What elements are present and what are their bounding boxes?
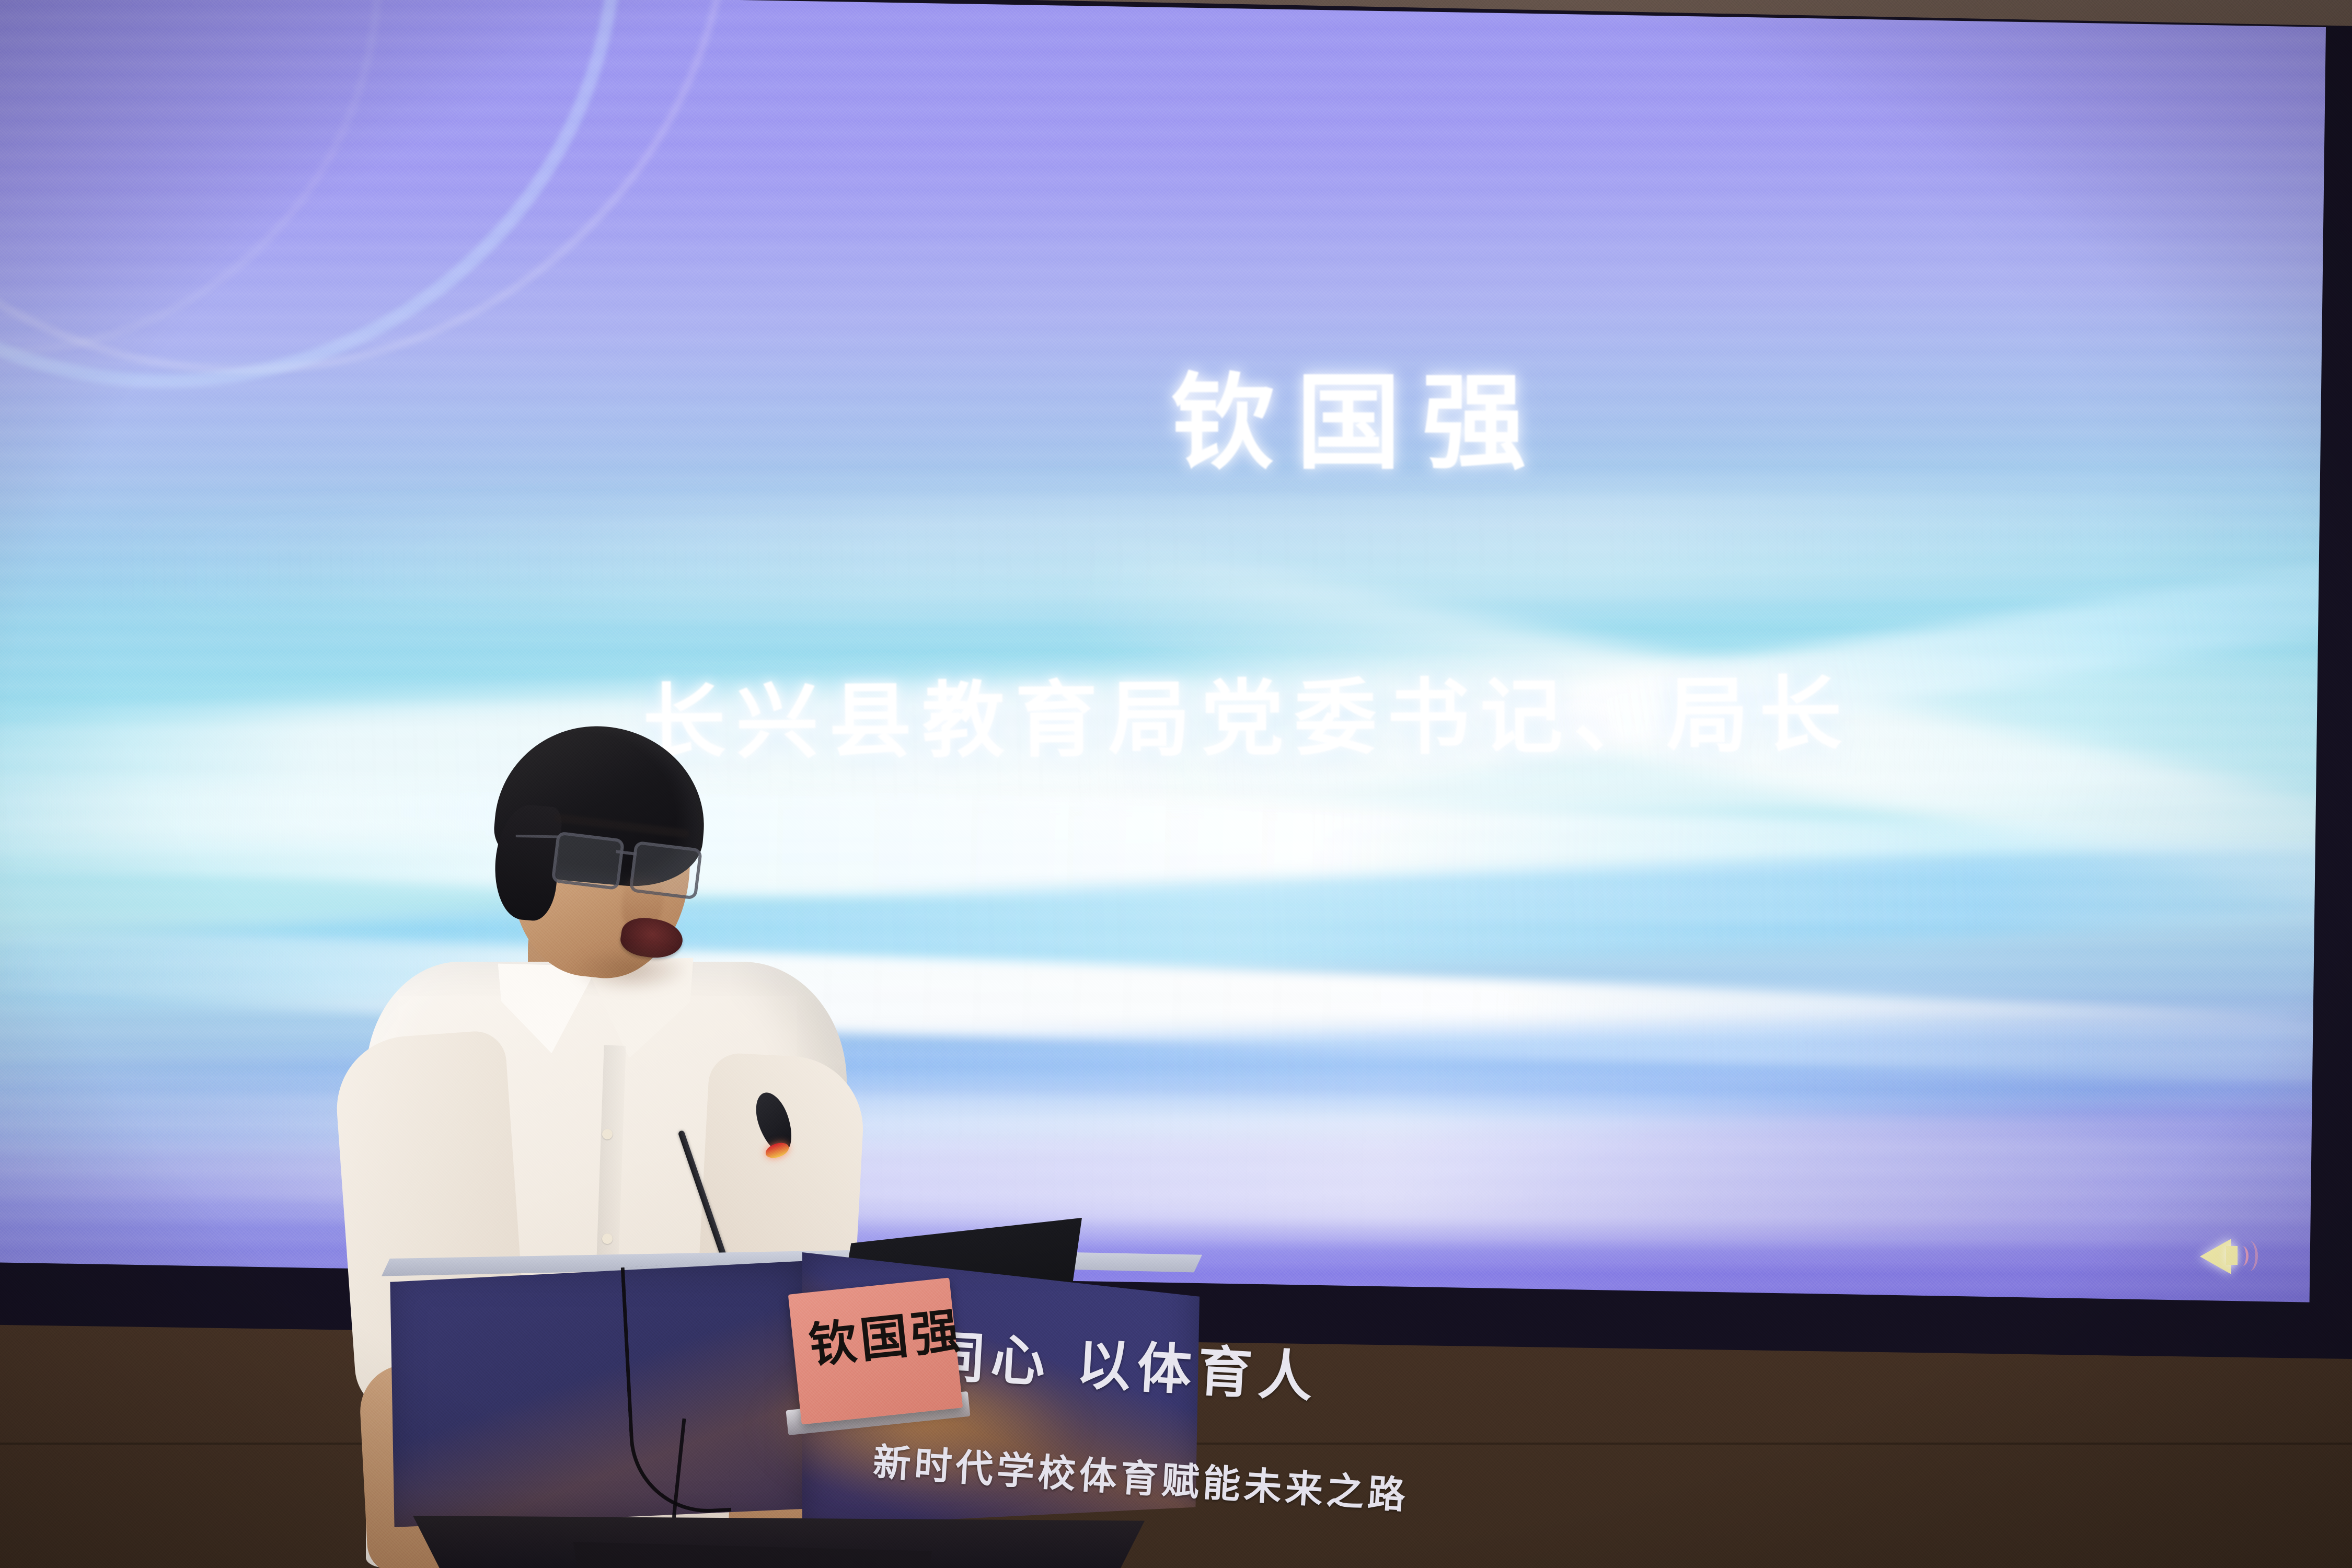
shirt-button — [602, 1129, 613, 1139]
chin-shadow — [570, 946, 690, 993]
podium: 同心 以体育人 新时代学校体育赋能未来之路 钦国强 — [382, 1249, 1228, 1568]
name-card-text: 钦国强 — [805, 1292, 965, 1377]
speaker-body-shape — [2226, 1246, 2238, 1265]
head — [491, 721, 711, 983]
slide-title: 钦国强 — [1171, 366, 1547, 481]
sound-wave-arc — [2241, 1241, 2258, 1271]
speaker-audio-icon[interactable] — [2193, 1223, 2261, 1291]
photo-stage: 钦国强 长兴县教育局党委书记、局长 — [0, 0, 2352, 1568]
shirt-button — [602, 1233, 613, 1244]
lens-left — [551, 831, 625, 890]
name-card: 钦国强 — [788, 1277, 963, 1424]
